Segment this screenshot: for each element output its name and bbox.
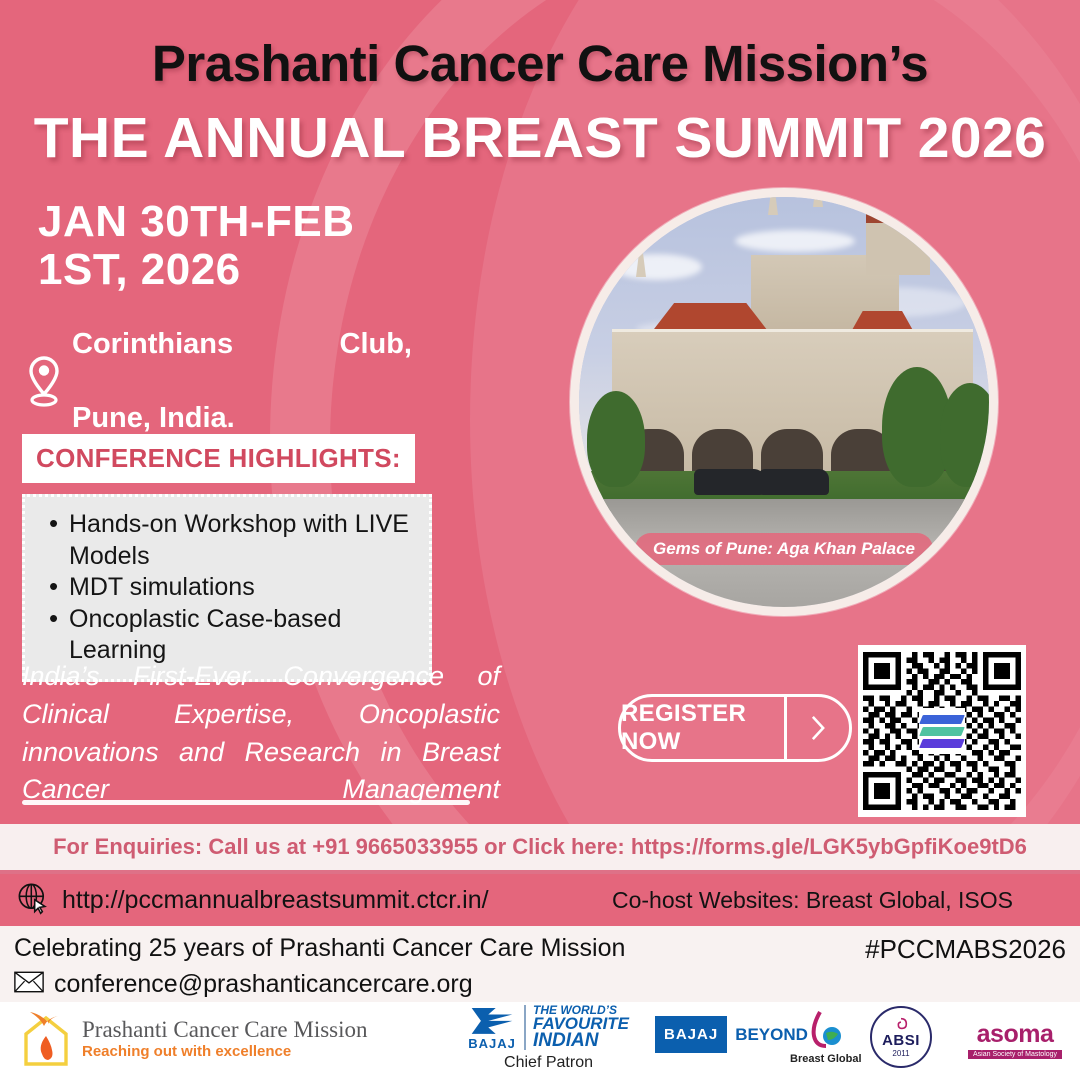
register-button-label: REGISTER NOW xyxy=(621,697,787,759)
pccm-name: Prashanti Cancer Care Mission xyxy=(82,1017,368,1043)
photo-inner: Gems of Pune: Aga Khan Palace xyxy=(579,197,989,607)
cloud xyxy=(735,230,855,252)
enquiry-band: For Enquiries: Call us at +91 9665033955… xyxy=(0,824,1080,870)
globe-drop-logo xyxy=(806,1008,846,1052)
venue-text: Corinthians Club, Pune, India. xyxy=(72,326,412,437)
sponsor-strip: Prashanti Cancer Care Mission Reaching o… xyxy=(0,1002,1080,1080)
envelope-icon xyxy=(14,971,44,998)
highlights-box: Hands-on Workshop with LIVE Models MDT s… xyxy=(22,494,432,682)
info-band: Celebrating 25 years of Prashanti Cancer… xyxy=(0,926,1080,1002)
palace-spire xyxy=(768,197,778,215)
absi-spiral-icon xyxy=(887,1016,915,1032)
event-date: JAN 30TH-FEB 1ST, 2026 xyxy=(38,198,418,295)
qr-logo-bar xyxy=(919,739,965,748)
absi-name: ABSI xyxy=(882,1032,920,1049)
sponsor-asoma: asoma Asian Society of Mastology xyxy=(968,1020,1062,1059)
highlights-list: Hands-on Workshop with LIVE Models MDT s… xyxy=(43,509,419,667)
event-tagline: India’s First-Ever Convergence of Clinic… xyxy=(22,658,500,847)
tree xyxy=(940,383,989,487)
website-band: http://pccmannualbreastsummit.ctcr.in/ C… xyxy=(0,874,1080,926)
presenter-title: Prashanti Cancer Care Mission’s xyxy=(0,34,1080,93)
website-left-group[interactable]: http://pccmannualbreastsummit.ctcr.in/ xyxy=(16,881,489,920)
register-now-button[interactable]: REGISTER NOW xyxy=(618,694,852,762)
aga-khan-palace-photo: Gems of Pune: Aga Khan Palace xyxy=(570,188,998,616)
parked-vehicle xyxy=(694,469,764,495)
qr-logo-bar xyxy=(919,727,965,736)
map-pin-icon xyxy=(26,356,62,408)
celebrating-text: Celebrating 25 years of Prashanti Cancer… xyxy=(14,934,625,963)
pccm-tagline: Reaching out with excellence xyxy=(82,1043,368,1060)
sponsor-breast-global: Breast Global xyxy=(790,1008,862,1065)
worlds-favourite-indian-mark: THE WORLD’S FAVOURITE INDIAN xyxy=(524,1005,629,1049)
list-item: MDT simulations xyxy=(43,572,419,604)
venue-line-2: Pune, India. xyxy=(72,402,235,434)
sponsor-absi: ABSI 2011 xyxy=(870,1006,932,1068)
palace-tower xyxy=(866,209,930,275)
email-row[interactable]: conference@prashanticancercare.org xyxy=(14,970,473,999)
website-url[interactable]: http://pccmannualbreastsummit.ctcr.in/ xyxy=(62,886,489,915)
asoma-wordmark: asoma xyxy=(977,1020,1054,1049)
poster-sheet: Prashanti Cancer Care Mission’s THE ANNU… xyxy=(0,0,1080,1080)
pccm-text-block: Prashanti Cancer Care Mission Reaching o… xyxy=(82,1017,368,1060)
globe-cursor-icon xyxy=(16,881,50,920)
bajaj-logo: BAJAJ xyxy=(468,1004,516,1051)
qr-logo-bar xyxy=(919,715,965,724)
house-flame-bird-logo xyxy=(18,1008,74,1068)
sponsor-bajaj-beyond: BAJAJ BEYOND xyxy=(655,1016,808,1053)
date-line-1: JAN 30TH-FEB xyxy=(38,198,418,246)
contact-email[interactable]: conference@prashanticancercare.org xyxy=(54,970,473,999)
asoma-subtitle: Asian Society of Mastology xyxy=(968,1050,1062,1059)
venue-row: Corinthians Club, Pune, India. xyxy=(26,326,426,437)
palace-spire xyxy=(813,197,823,207)
tagline-divider xyxy=(22,800,470,805)
cohost-websites: Co-host Websites: Breast Global, ISOS xyxy=(612,887,1013,914)
palace-spire xyxy=(636,237,646,277)
wfi-line-3: INDIAN xyxy=(533,1032,629,1049)
chevron-right-icon xyxy=(787,697,849,759)
parked-vehicle xyxy=(759,469,829,495)
event-hashtag: #PCCMABS2026 xyxy=(865,934,1066,965)
list-item: Hands-on Workshop with LIVE Models xyxy=(43,509,419,572)
absi-year: 2011 xyxy=(892,1049,909,1058)
bajaj-wordmark: BAJAJ xyxy=(468,1036,516,1051)
sponsor-bajaj-chief-patron: BAJAJ THE WORLD’S FAVOURITE INDIAN Chief… xyxy=(468,1004,629,1072)
bajaj-chief-row: BAJAJ THE WORLD’S FAVOURITE INDIAN xyxy=(468,1004,629,1051)
chief-patron-label: Chief Patron xyxy=(504,1054,593,1072)
highlights-label: CONFERENCE HIGHLIGHTS: xyxy=(22,434,415,483)
tree xyxy=(587,391,645,487)
sponsor-pccm: Prashanti Cancer Care Mission Reaching o… xyxy=(18,1008,368,1068)
registration-qr-code[interactable] xyxy=(858,645,1026,817)
qr-center-logo xyxy=(919,708,965,754)
event-title: THE ANNUAL BREAST SUMMIT 2026 xyxy=(0,105,1080,171)
venue-line-1: Corinthians Club, xyxy=(72,326,412,400)
breast-global-name: Breast Global xyxy=(790,1053,862,1065)
absi-seal: ABSI 2011 xyxy=(870,1006,932,1068)
date-line-2: 1ST, 2026 xyxy=(38,246,418,294)
bajaj-beyond-wordmark: BAJAJ xyxy=(655,1016,727,1053)
photo-caption: Gems of Pune: Aga Khan Palace xyxy=(635,533,933,565)
